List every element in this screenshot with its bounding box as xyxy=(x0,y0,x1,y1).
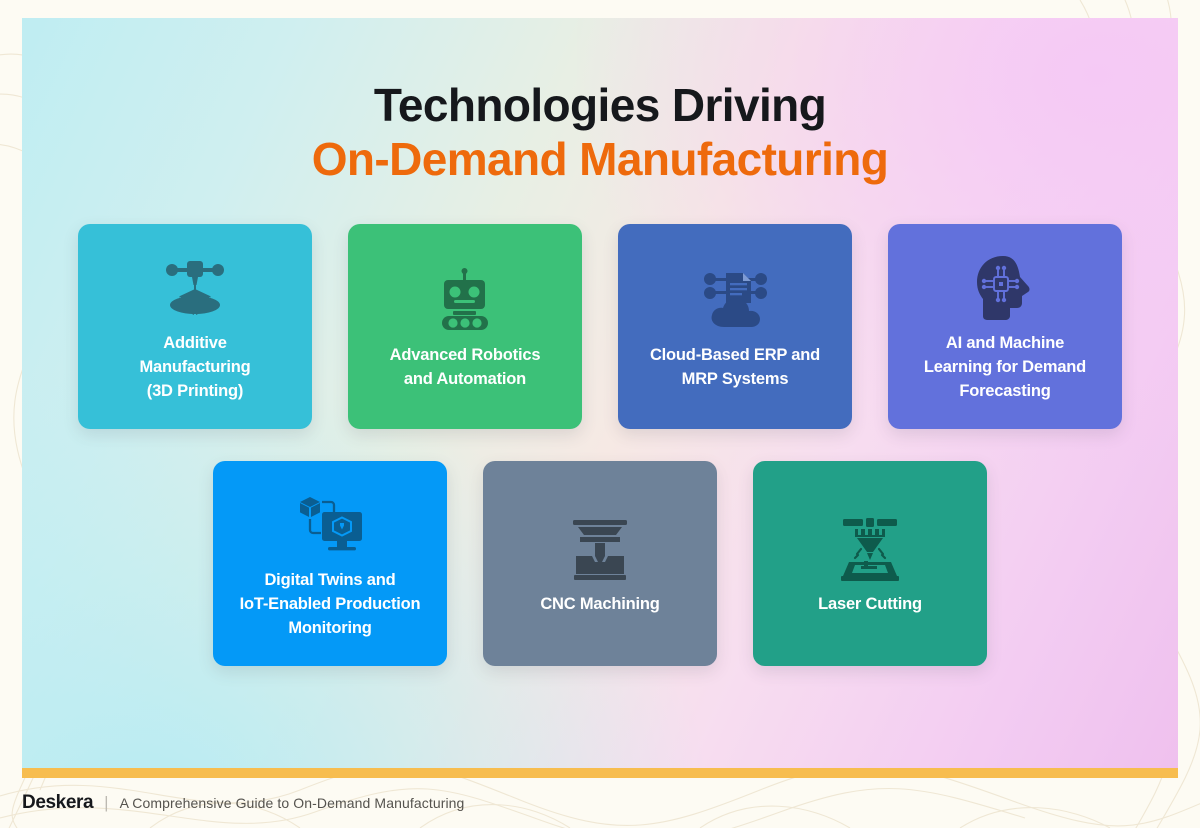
title-line-2: On-Demand Manufacturing xyxy=(0,132,1200,186)
card-additive-manufacturing[interactable]: Additive Manufacturing (3D Printing) xyxy=(78,224,312,429)
cnc-mill-icon xyxy=(562,511,638,587)
card-label: Digital Twins and IoT-Enabled Production… xyxy=(240,569,421,641)
card-digital-twins-iot[interactable]: Digital Twins and IoT-Enabled Production… xyxy=(213,461,447,666)
cloud-document-network-icon xyxy=(697,262,773,338)
footer-divider: | xyxy=(104,793,108,813)
card-label: Advanced Robotics and Automation xyxy=(390,344,541,392)
deskera-logo: Deskera xyxy=(22,792,93,814)
robot-icon xyxy=(427,262,503,338)
card-laser-cutting[interactable]: Laser Cutting xyxy=(753,461,987,666)
technology-cards-row-1: Additive Manufacturing (3D Printing) xyxy=(0,224,1200,429)
footer-tagline: A Comprehensive Guide to On-Demand Manuf… xyxy=(120,795,465,811)
title-line-1: Technologies Driving xyxy=(0,78,1200,132)
technology-cards-row-2: Digital Twins and IoT-Enabled Production… xyxy=(0,461,1200,666)
card-advanced-robotics[interactable]: Advanced Robotics and Automation xyxy=(348,224,582,429)
card-label: Cloud-Based ERP and MRP Systems xyxy=(650,344,820,392)
card-cnc-machining[interactable]: CNC Machining xyxy=(483,461,717,666)
card-ai-ml-forecasting[interactable]: AI and Machine Learning for Demand Forec… xyxy=(888,224,1122,429)
card-label: Laser Cutting xyxy=(818,593,922,617)
footer: Deskera | A Comprehensive Guide to On-De… xyxy=(0,778,1200,828)
card-label: AI and Machine Learning for Demand Forec… xyxy=(924,332,1086,404)
3d-printer-icon xyxy=(157,250,233,326)
page-title: Technologies Driving On-Demand Manufactu… xyxy=(0,0,1200,187)
laser-cutter-icon xyxy=(832,511,908,587)
ai-brain-chip-icon xyxy=(967,250,1043,326)
card-cloud-erp-mrp[interactable]: Cloud-Based ERP and MRP Systems xyxy=(618,224,852,429)
digital-twin-monitor-icon xyxy=(292,487,368,563)
card-label: Additive Manufacturing (3D Printing) xyxy=(139,332,250,404)
infographic-content: Technologies Driving On-Demand Manufactu… xyxy=(0,0,1200,828)
card-label: CNC Machining xyxy=(540,593,659,617)
